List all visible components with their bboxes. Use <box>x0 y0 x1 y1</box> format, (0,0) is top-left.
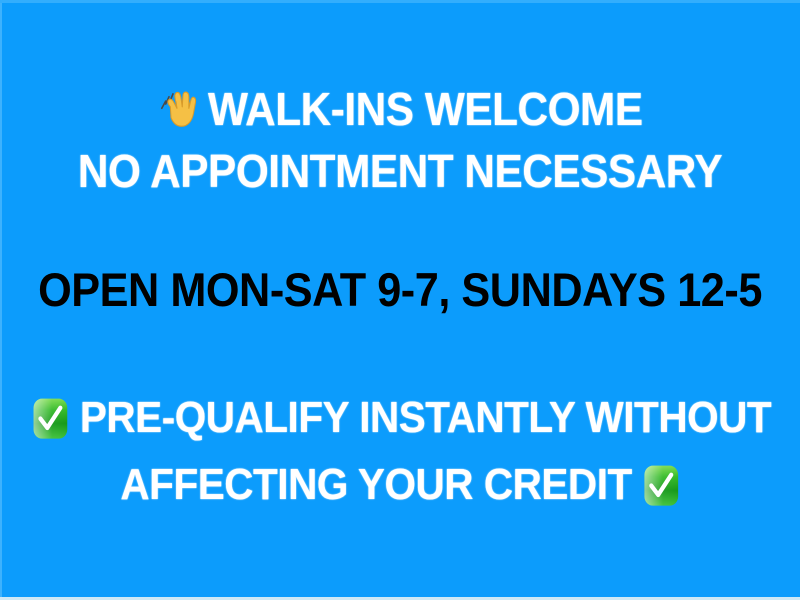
check-mark-button-icon <box>32 397 69 441</box>
business-hours-block: OPEN MON-SAT 9-7, SUNDAYS 12-5 <box>0 266 800 313</box>
walk-ins-text: WALK-INS WELCOME <box>208 83 643 135</box>
affecting-credit-line: AFFECTING YOUR CREDIT <box>32 463 768 508</box>
pre-qualify-line: PRE-QUALIFY INSTANTLY WITHOUT <box>32 396 768 441</box>
pre-qualify-message-block: PRE-QUALIFY INSTANTLY WITHOUT AFFECTING … <box>0 396 800 508</box>
banner-left-edge <box>0 0 2 600</box>
banner-top-edge <box>0 0 800 3</box>
walk-ins-message-block: WALK-INS WELCOME NO APPOINTMENT NECESSAR… <box>0 86 800 194</box>
no-appointment-line: NO APPOINTMENT NECESSARY <box>32 148 768 194</box>
affecting-credit-text: AFFECTING YOUR CREDIT <box>120 460 631 509</box>
business-hours-line: OPEN MON-SAT 9-7, SUNDAYS 12-5 <box>32 266 768 313</box>
waving-hand-icon <box>157 86 199 132</box>
walk-ins-line: WALK-INS WELCOME <box>32 86 768 132</box>
check-mark-button-icon <box>643 464 680 508</box>
promotional-banner: WALK-INS WELCOME NO APPOINTMENT NECESSAR… <box>0 0 800 600</box>
pre-qualify-text: PRE-QUALIFY INSTANTLY WITHOUT <box>80 393 771 442</box>
